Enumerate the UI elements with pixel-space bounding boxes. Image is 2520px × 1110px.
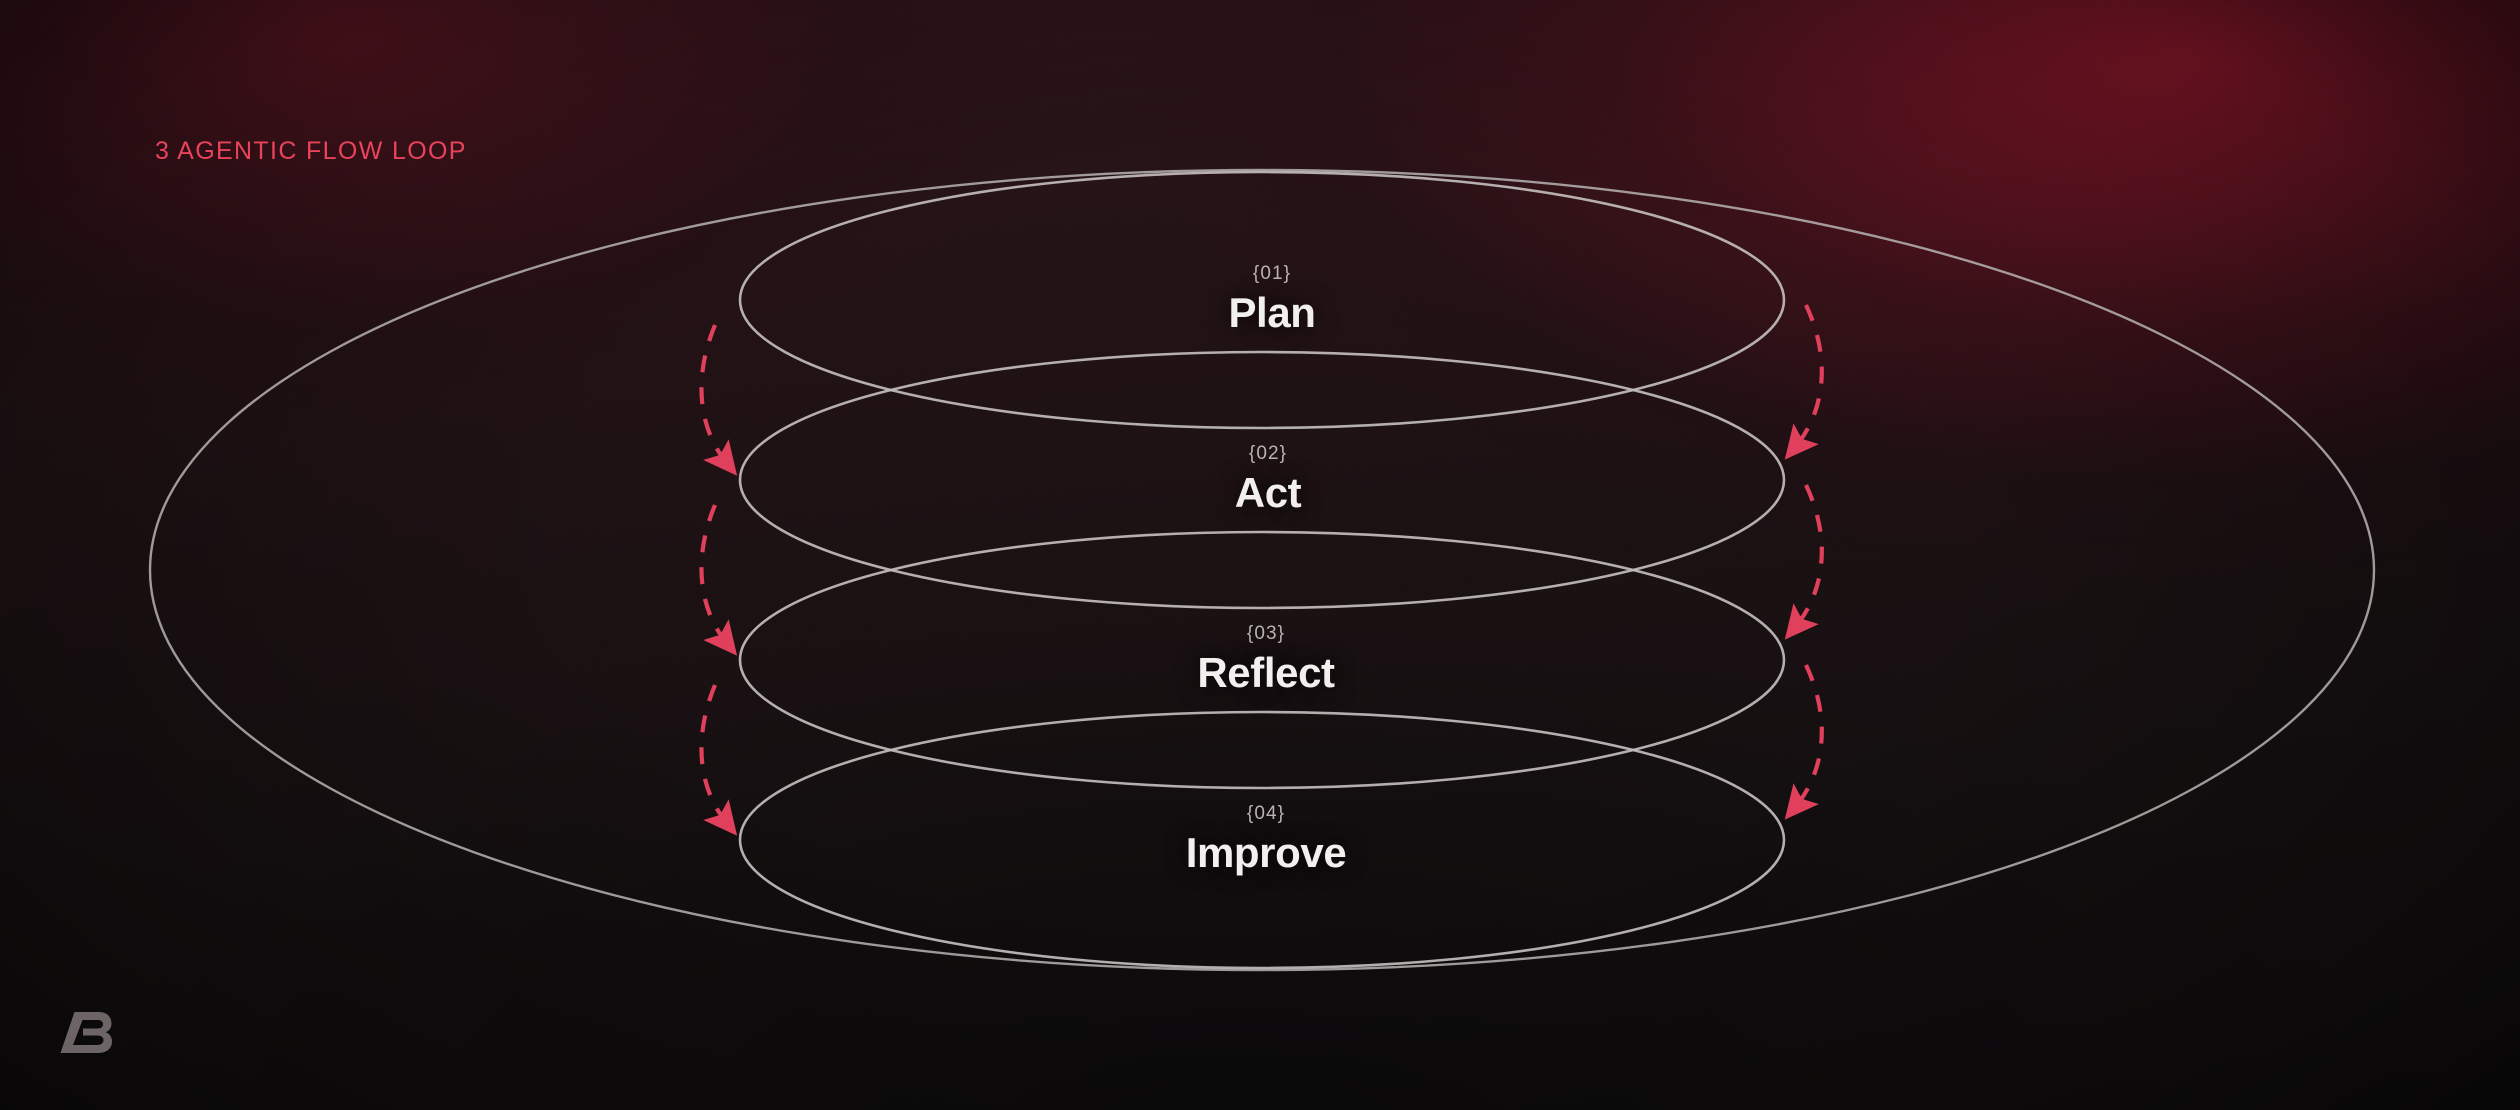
arrow-right-02-03 [1796, 485, 1822, 626]
slide-canvas: 3 AGENTIC FLOW LOOP [0, 0, 2520, 1110]
transition-arrows-right [1796, 305, 1822, 806]
brand-logo-b-icon [58, 1006, 114, 1058]
transition-arrows-left [701, 325, 726, 822]
arrow-right-03-04 [1796, 665, 1822, 806]
arrow-left-01-02 [701, 325, 726, 462]
arrow-left-03-04 [701, 685, 726, 822]
arrow-left-02-03 [701, 505, 726, 642]
agentic-flow-loop-diagram [0, 0, 2520, 1110]
arrow-right-01-02 [1796, 305, 1822, 446]
outer-loop-ellipse [150, 170, 2374, 970]
